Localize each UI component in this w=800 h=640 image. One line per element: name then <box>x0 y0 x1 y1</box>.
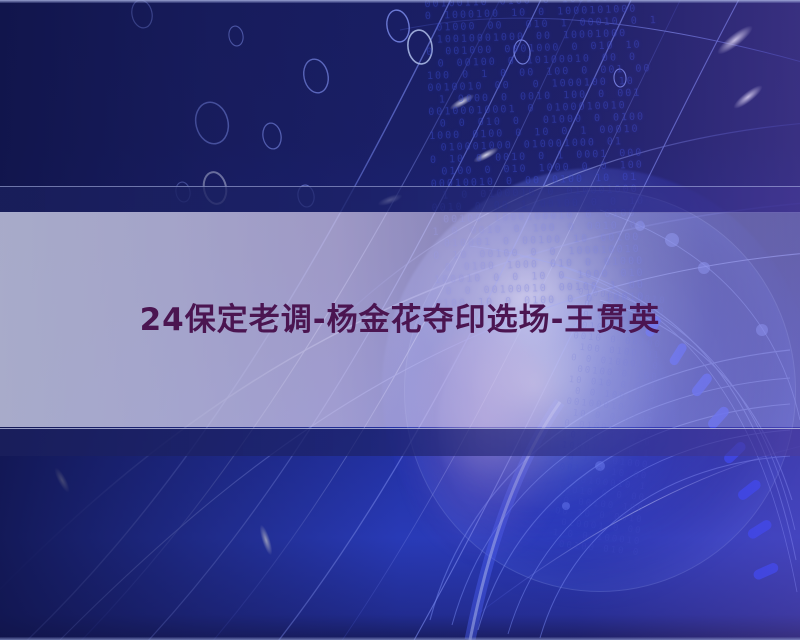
top-hairline <box>0 0 800 3</box>
top-dark-band <box>0 186 800 213</box>
thumbnail-canvas: 00100110 0100 0 1001001000 0 1000100 10 … <box>0 0 800 640</box>
bottom-dark-band <box>0 428 800 456</box>
video-title: 24保定老调-杨金花夺印选场-王贯英 <box>80 295 720 345</box>
title-container: 24保定老调-杨金花夺印选场-王贯英 <box>0 212 800 427</box>
